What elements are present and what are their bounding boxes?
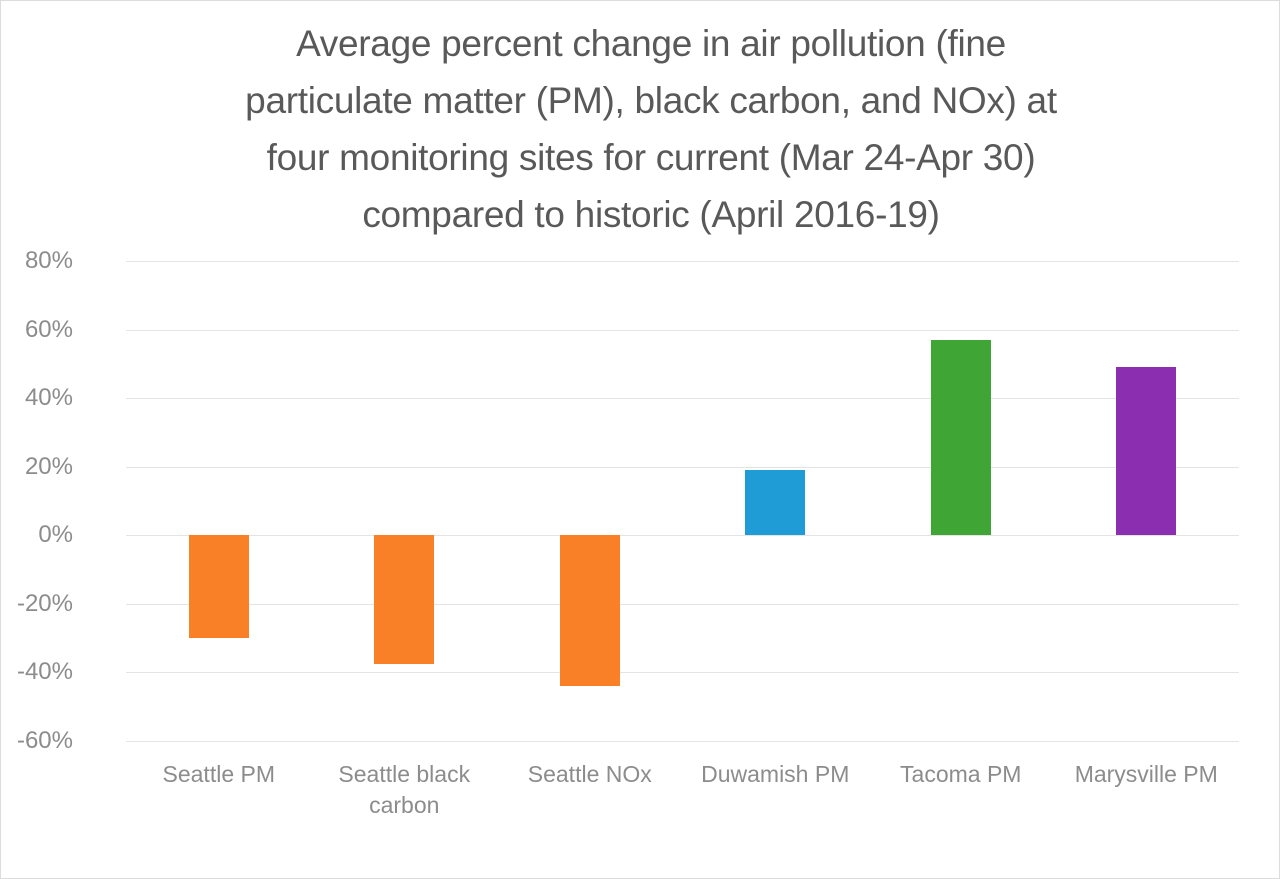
gridline-80 xyxy=(126,261,1239,262)
x-tick-label: Seattle NOx xyxy=(497,759,683,790)
y-tick-label: 80% xyxy=(0,249,73,273)
gridline--20 xyxy=(126,604,1239,605)
y-tick-label: 40% xyxy=(0,386,73,410)
x-tick-label: Seattle PM xyxy=(126,759,312,790)
bar xyxy=(189,535,249,638)
bar xyxy=(560,535,620,686)
bar xyxy=(374,535,434,664)
bar xyxy=(931,340,991,535)
x-tick-label: Marysville PM xyxy=(1054,759,1240,790)
chart-title-line-1: Average percent change in air pollution … xyxy=(151,15,1151,72)
gridline-40 xyxy=(126,398,1239,399)
x-tick-label: Seattle black carbon xyxy=(312,759,498,821)
bar xyxy=(1116,367,1176,535)
chart-title-line-4: compared to historic (April 2016-19) xyxy=(151,186,1151,243)
plot-area: 80%60%40%20%0%-20%-40%-60% xyxy=(126,261,1239,741)
chart-title-line-2: particulate matter (PM), black carbon, a… xyxy=(151,72,1151,129)
gridline-60 xyxy=(126,330,1239,331)
chart-title-line-3: four monitoring sites for current (Mar 2… xyxy=(151,129,1151,186)
y-tick-label: -40% xyxy=(0,660,73,684)
gridline--40 xyxy=(126,672,1239,673)
y-tick-label: 20% xyxy=(0,455,73,479)
gridline-20 xyxy=(126,467,1239,468)
bar xyxy=(745,470,805,535)
y-tick-label: 0% xyxy=(0,523,73,547)
chart-title: Average percent change in air pollution … xyxy=(151,15,1151,243)
gridline-0 xyxy=(126,535,1239,536)
y-tick-label: -60% xyxy=(0,729,73,753)
x-tick-label: Duwamish PM xyxy=(683,759,869,790)
y-tick-label: -20% xyxy=(0,592,73,616)
y-tick-label: 60% xyxy=(0,318,73,342)
chart-frame: Average percent change in air pollution … xyxy=(0,0,1280,879)
x-tick-label: Tacoma PM xyxy=(868,759,1054,790)
gridline--60 xyxy=(126,741,1239,742)
